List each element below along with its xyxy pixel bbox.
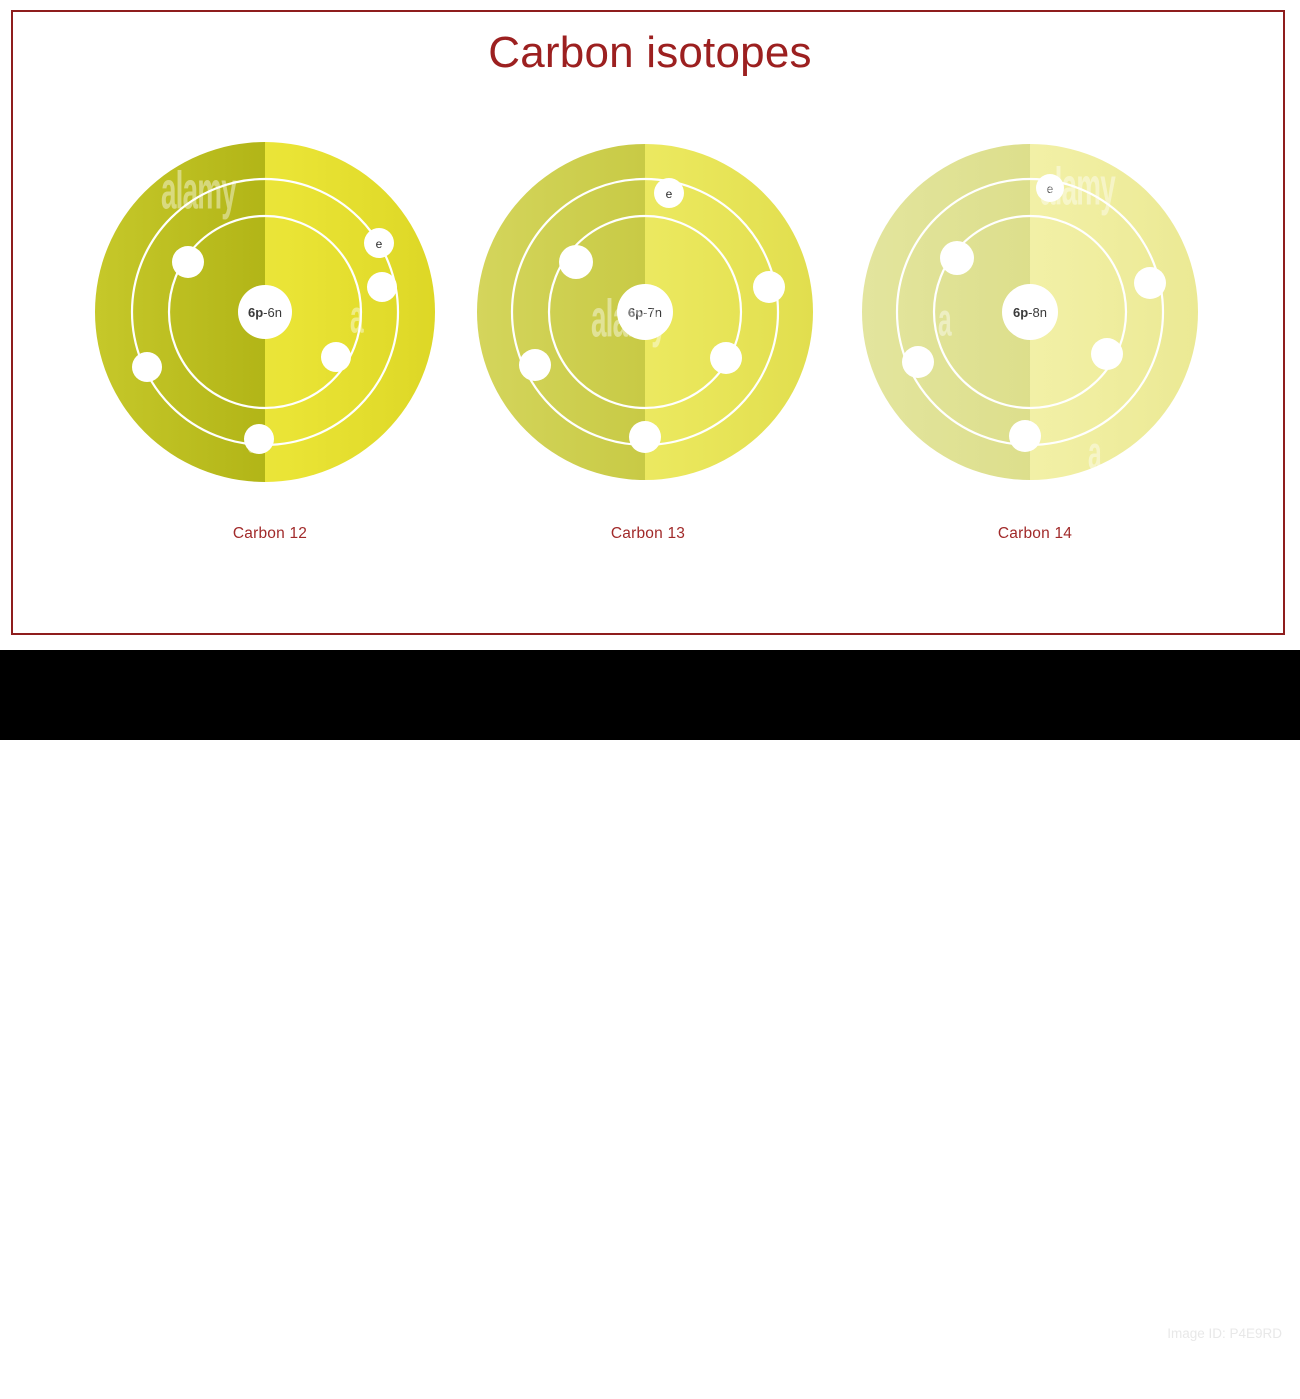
electron-inner-1[interactable] (940, 241, 974, 275)
electron-outer-3[interactable] (519, 349, 551, 381)
artboard: Carbon isotopes (0, 0, 1300, 650)
image-id-label: Image ID: P4E9RD (1022, 1326, 1282, 1341)
nucleus-label: 6p-6n (248, 305, 282, 320)
bohr-model-svg: e 6p-7n (473, 140, 823, 490)
atom-svg-carbon-14: e 6p-8n alamy a a (860, 140, 1210, 490)
electron-outer-4[interactable] (244, 424, 274, 454)
atom-diagram-carbon-12[interactable]: e 6p-6n alamy a a Carbon 12 (95, 140, 445, 560)
atom-body: e 6p-7n (477, 144, 813, 480)
electron-label: e (1047, 182, 1054, 196)
electron-outer-3[interactable] (902, 346, 934, 378)
alamy-logo[interactable]: alamy (38, 1318, 134, 1399)
atom-body: e 6p-8n (862, 144, 1198, 480)
electron-outer-2[interactable] (753, 271, 785, 303)
atom-caption-carbon-12: Carbon 12 (95, 525, 445, 543)
electron-inner-1[interactable] (559, 245, 593, 279)
bohr-model-svg: e 6p-6n (95, 140, 445, 490)
nucleus-label: 6p-7n (628, 305, 662, 320)
atom-diagrams-row: e 6p-6n alamy a a Carbon 12 (0, 140, 1300, 560)
atom-body: e 6p-6n (95, 142, 435, 482)
atom-svg-carbon-12: e 6p-6n alamy a a (95, 140, 445, 490)
electron-label: e (376, 237, 383, 251)
atom-diagram-carbon-13[interactable]: e 6p-7n alamy Carbon 13 (473, 140, 823, 560)
page-title: Carbon isotopes (0, 28, 1300, 78)
atom-svg-carbon-13: e 6p-7n alamy (473, 140, 823, 490)
electron-inner-2[interactable] (710, 342, 742, 374)
atom-caption-carbon-14: Carbon 14 (860, 525, 1210, 543)
atom-caption-carbon-13: Carbon 13 (473, 525, 823, 543)
electron-outer-2[interactable] (367, 272, 397, 302)
alamy-footer-bar: alamy Image ID: P4E9RD www.alamy.com (0, 650, 1300, 740)
electron-outer-4[interactable] (1009, 420, 1041, 452)
electron-outer-4[interactable] (629, 421, 661, 453)
bohr-model-svg: e 6p-8n (860, 140, 1210, 490)
electron-outer-2[interactable] (1134, 267, 1166, 299)
electron-inner-1[interactable] (172, 246, 204, 278)
electron-inner-2[interactable] (321, 342, 351, 372)
nucleus-label: 6p-8n (1013, 305, 1047, 320)
alamy-url-label[interactable]: www.alamy.com (1022, 1349, 1282, 1369)
electron-inner-2[interactable] (1091, 338, 1123, 370)
electron-label: e (666, 187, 673, 201)
atom-diagram-carbon-14[interactable]: e 6p-8n alamy a a Carbon 14 (860, 140, 1210, 560)
electron-outer-3[interactable] (132, 352, 162, 382)
